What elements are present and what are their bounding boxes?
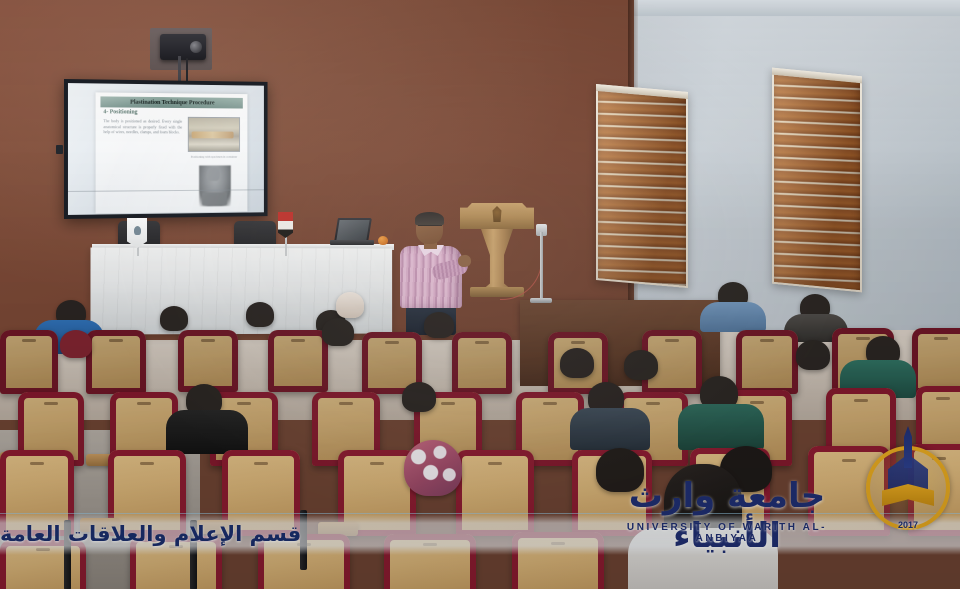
slide-subtitle: 4- Positioning <box>103 109 137 115</box>
watermark-university-english: UNIVERSITY OF WARITH AL-ANBIYAA <box>612 522 842 544</box>
auditorium-seat <box>912 328 960 394</box>
ceiling-edge <box>634 0 960 16</box>
presenter-hair <box>415 212 444 226</box>
screen-side-knob <box>56 145 63 154</box>
auditorium-seat <box>86 330 146 394</box>
watermark-department-text: قسم الإعلام والعلاقات العامة <box>0 516 620 552</box>
screen-surface: Plastination Technique Procedure 4- Posi… <box>68 83 264 215</box>
attendee-torso <box>678 404 764 450</box>
logo-year: 2017 <box>862 520 954 530</box>
slide-title: Plastination Technique Procedure <box>100 96 242 108</box>
attendee-torso <box>570 408 650 450</box>
microphone-stand <box>540 232 543 302</box>
attendee-head-headscarf <box>336 292 364 318</box>
window-right <box>772 68 862 293</box>
iraq-flag <box>278 212 293 238</box>
projection-screen: Plastination Technique Procedure 4- Posi… <box>64 79 268 219</box>
auditorium-seat <box>736 330 798 394</box>
projector-lens-icon <box>190 41 202 53</box>
window-blind-right <box>774 75 860 290</box>
auditorium-seat <box>268 330 328 392</box>
presenter-shirt <box>400 246 462 308</box>
presentation-slide: Plastination Technique Procedure 4- Posi… <box>96 92 248 213</box>
laptop-keyboard <box>330 240 374 245</box>
slide-photo <box>188 117 240 152</box>
attendee-head <box>60 330 92 358</box>
attendee-head <box>402 382 436 412</box>
attendee-head-headscarf <box>404 440 462 496</box>
watermark-university-name: جامعة وارث الأنبياء UNIVERSITY OF WARITH… <box>612 472 842 560</box>
attendee-torso <box>166 410 248 454</box>
window-blind-left <box>598 91 686 286</box>
attendee-head <box>796 340 830 370</box>
slide-body-text: The body is positioned as desired. Every… <box>103 118 182 135</box>
logo-minaret-icon <box>904 426 912 468</box>
window-left <box>596 84 688 288</box>
attendee-head <box>560 348 594 378</box>
auditorium-seat <box>452 332 512 394</box>
lecture-hall-photo: Plastination Technique Procedure 4- Posi… <box>0 0 960 589</box>
presenter-glasses-icon <box>418 225 442 229</box>
presenter-hand <box>457 254 472 268</box>
attendee-torso <box>700 302 766 332</box>
slide-image-caption: Positioning with specimen in container <box>190 155 238 159</box>
slide-figure <box>199 165 231 206</box>
watermark-university-arabic: جامعة وارث الأنبياء <box>612 476 842 556</box>
microphone-base <box>530 298 552 303</box>
attendee-head <box>246 302 274 327</box>
desk-object <box>378 236 388 245</box>
auditorium-seat <box>0 330 58 394</box>
laptop-screen <box>334 218 372 242</box>
attendee-head <box>322 318 354 346</box>
attendee-head <box>424 312 454 338</box>
auditorium-seat <box>178 330 238 392</box>
attendee-head <box>624 350 658 380</box>
university-logo-icon: 2017 <box>862 424 954 544</box>
attendee-head <box>160 306 188 331</box>
projector <box>160 34 206 60</box>
